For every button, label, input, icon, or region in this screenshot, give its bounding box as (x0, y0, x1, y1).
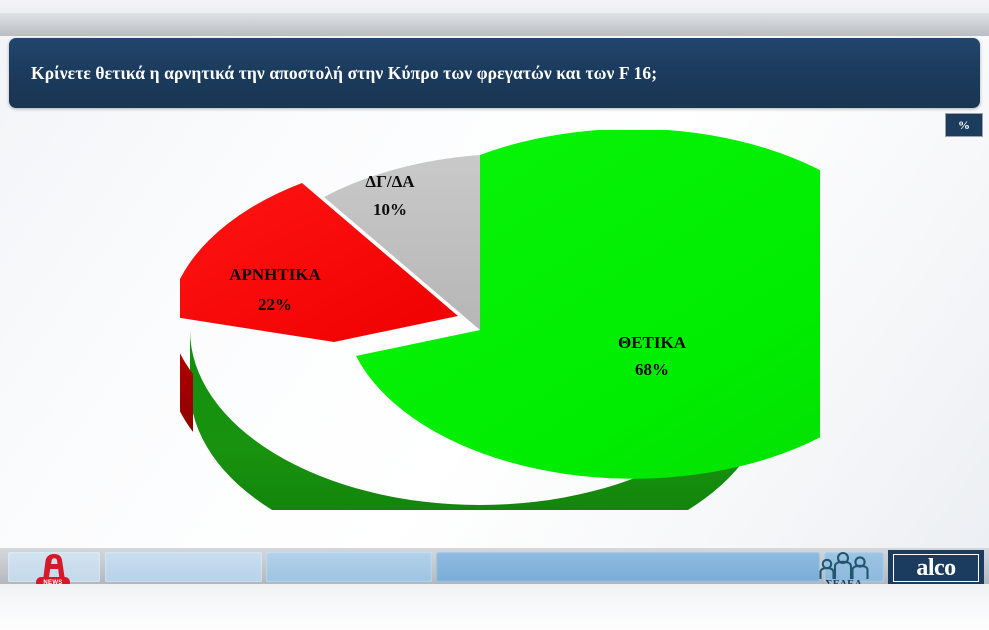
title-band: Κρίνετε θετικά η αρνητικά την αποστολή σ… (9, 38, 980, 108)
alco-logo: alco (888, 550, 984, 586)
footer-segment-3 (266, 552, 432, 582)
alco-wordmark: alco (916, 556, 955, 580)
pie-chart: ΘΕΤΙΚΑ 68% ΑΡΝΗΤΙΚΑ 22% ΔΓ/ΔΑ 10% (180, 130, 820, 510)
pie-chart-svg: ΘΕΤΙΚΑ 68% ΑΡΝΗΤΙΚΑ 22% ΔΓ/ΔΑ 10% (180, 130, 820, 510)
pie-label-dgda-name: ΔΓ/ΔΑ (365, 172, 415, 191)
footer-segment-2 (105, 552, 262, 582)
percent-unit-badge: % (945, 113, 983, 137)
top-chrome-strip (0, 0, 989, 13)
pie-label-dgda-value: 10% (373, 200, 407, 219)
pie-label-thetika-value: 68% (635, 360, 669, 379)
footer-segment-4 (436, 552, 820, 582)
page-title: Κρίνετε θετικά η αρνητικά την αποστολή σ… (31, 38, 966, 108)
pie-slice-side-arnitika (180, 316, 193, 432)
bottom-gutter (0, 584, 989, 630)
presentation-slide: Κρίνετε θετικά η αρνητικά την αποστολή σ… (0, 0, 989, 630)
top-gray-band (0, 13, 989, 36)
alco-logo-frame: alco (893, 554, 979, 582)
pie-label-arnitika-name: ΑΡΝΗΤΙΚΑ (229, 265, 321, 284)
pie-label-arnitika-value: 22% (258, 295, 292, 314)
pie-label-thetika-name: ΘΕΤΙΚΑ (618, 333, 687, 352)
